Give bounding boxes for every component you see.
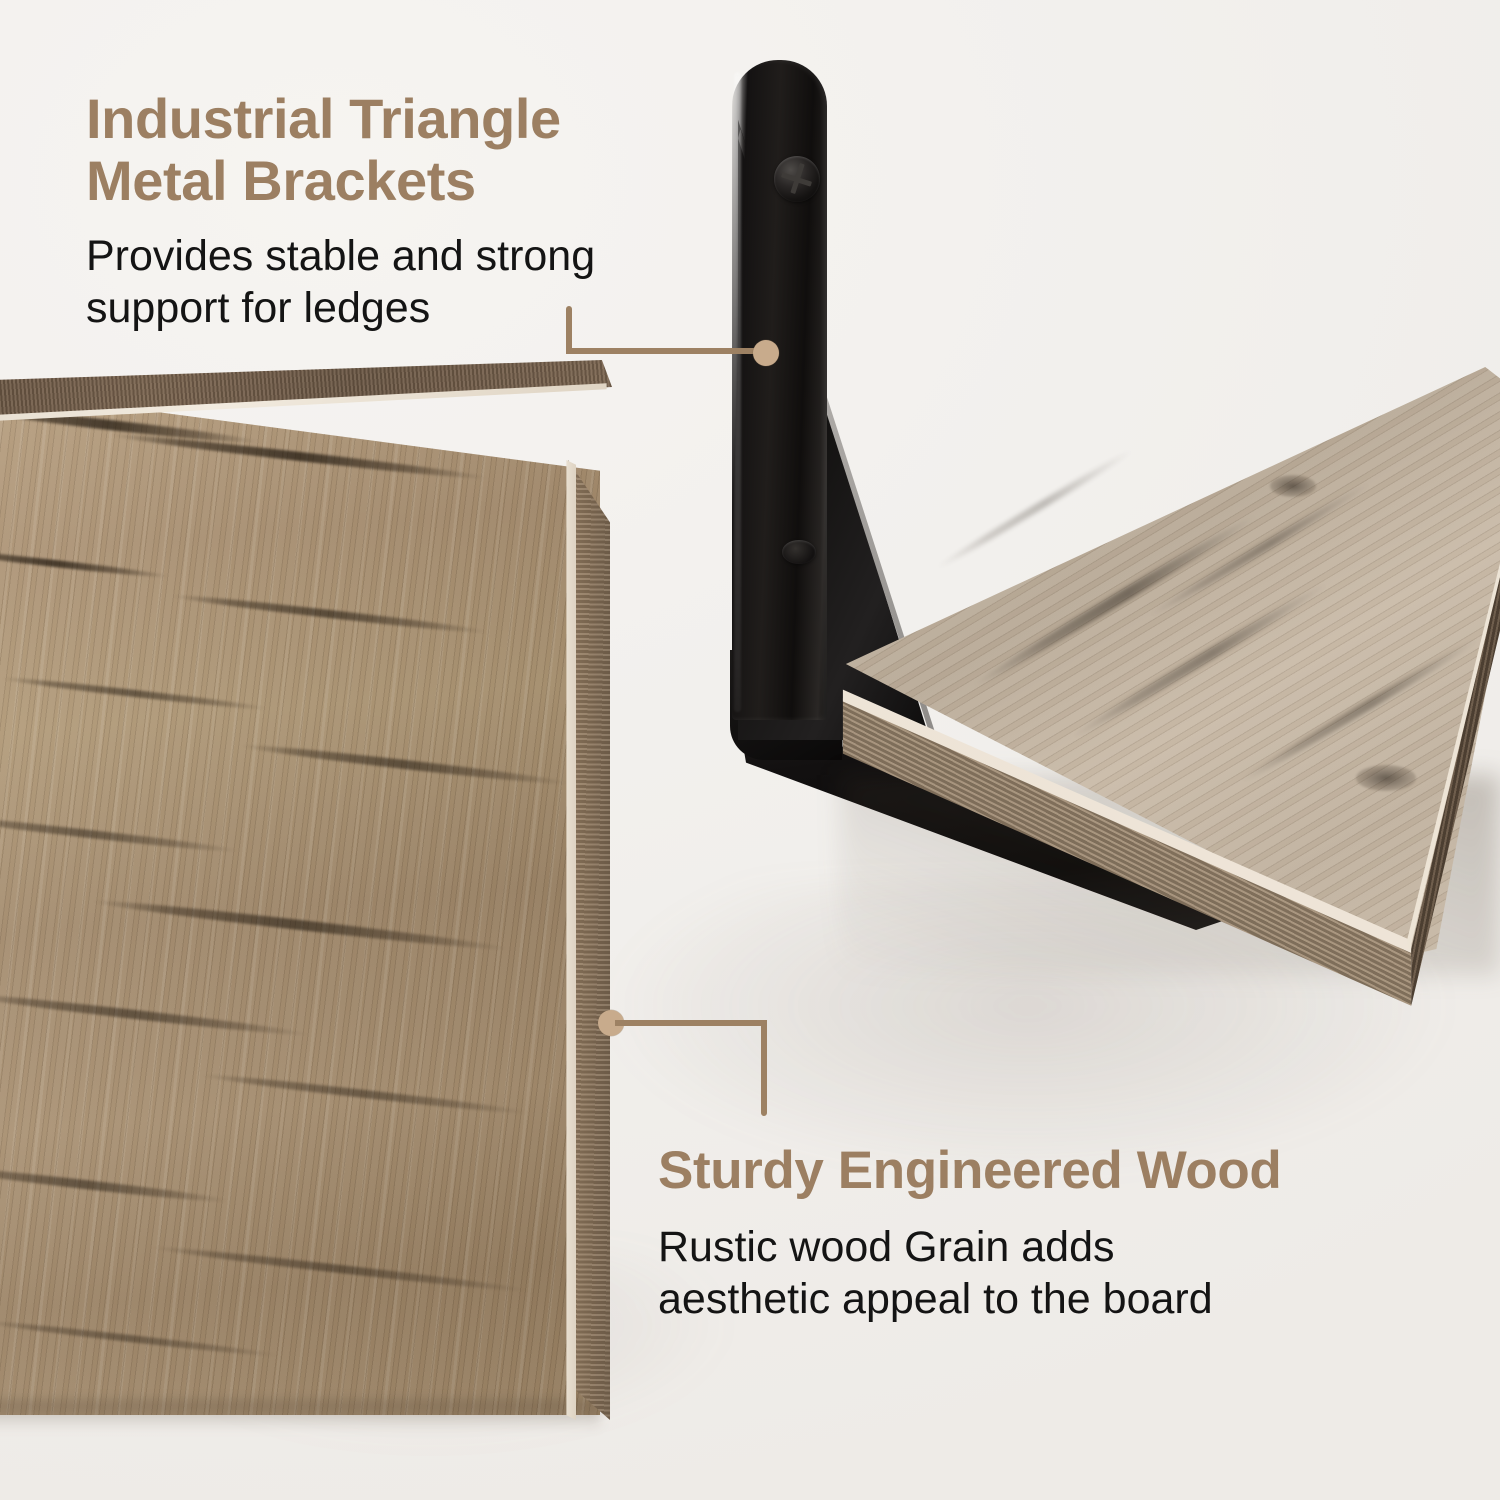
- callout-line-wood-vertical: [761, 1020, 767, 1116]
- phillips-head-screw: [774, 156, 820, 202]
- callout-line-wood-horizontal: [615, 1020, 767, 1026]
- left-board-face: [0, 360, 600, 1415]
- callout-text-wood: Sturdy Engineered Wood Rustic wood Grain…: [658, 1142, 1281, 1325]
- callout-text-brackets: Industrial Triangle Metal Brackets Provi…: [86, 88, 595, 334]
- right-shelf-board: [800, 355, 1500, 1035]
- callout-line-brackets-horizontal: [566, 348, 766, 354]
- callout-dot-brackets: [753, 340, 779, 366]
- callout-headline-wood: Sturdy Engineered Wood: [658, 1142, 1281, 1200]
- callout-body-brackets: Provides stable and strong support for l…: [86, 231, 595, 334]
- left-shelf-board: [0, 360, 640, 1500]
- callout-headline-brackets: Industrial Triangle Metal Brackets: [86, 88, 595, 211]
- callout-body-wood: Rustic wood Grain adds aesthetic appeal …: [658, 1222, 1281, 1325]
- product-feature-image: Industrial Triangle Metal Brackets Provi…: [0, 0, 1500, 1500]
